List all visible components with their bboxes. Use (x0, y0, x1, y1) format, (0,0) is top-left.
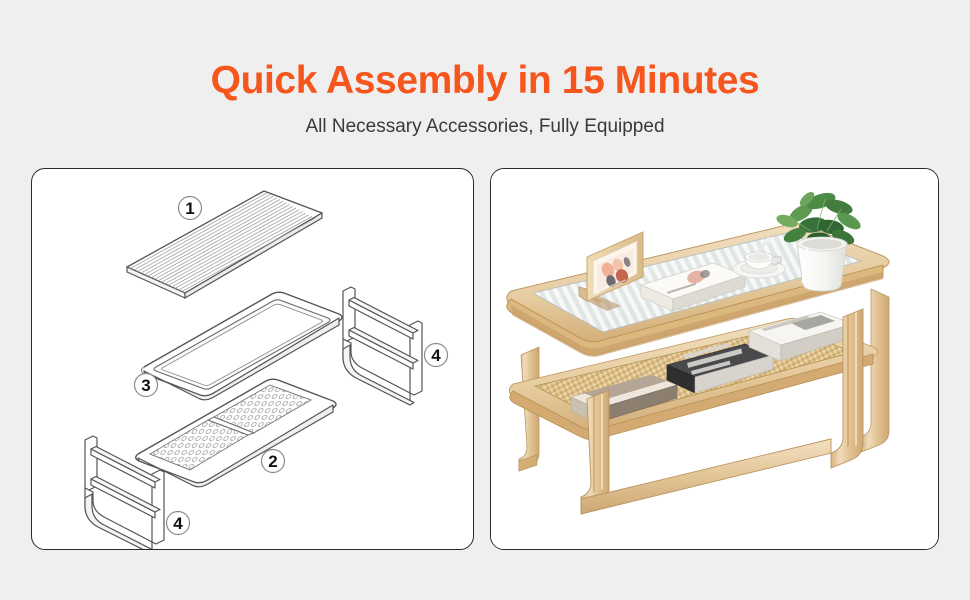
product-photo-panel (490, 168, 939, 550)
part-4-leg-frame-right (343, 287, 422, 405)
callout-label-3: 3 (141, 376, 150, 395)
callout-part-1: 1 (179, 197, 202, 220)
callout-label-1: 1 (185, 199, 194, 218)
exploded-diagram-panel: 1 3 (31, 168, 474, 550)
table-leg-far-right (861, 289, 889, 452)
callout-part-4-left: 4 (167, 512, 190, 535)
callout-label-2: 2 (268, 452, 277, 471)
page-title: Quick Assembly in 15 Minutes (0, 58, 970, 104)
infographic-page: Quick Assembly in 15 Minutes All Necessa… (0, 0, 970, 600)
part-3-tabletop-frame (142, 292, 342, 400)
callout-label-4-right: 4 (431, 346, 441, 365)
callout-part-3: 3 (135, 374, 158, 397)
callout-part-4-right: 4 (425, 344, 448, 367)
exploded-diagram-svg: 1 3 (32, 169, 473, 549)
callout-label-4-left: 4 (173, 514, 183, 533)
part-1-fluted-glass-top (127, 191, 322, 298)
page-subtitle: All Necessary Accessories, Fully Equippe… (0, 114, 970, 140)
part-2-rattan-shelf (136, 379, 336, 487)
product-illustration-svg (491, 169, 938, 549)
product-photo (491, 169, 938, 549)
bottom-stretcher (581, 439, 831, 514)
callout-part-2: 2 (262, 450, 285, 473)
